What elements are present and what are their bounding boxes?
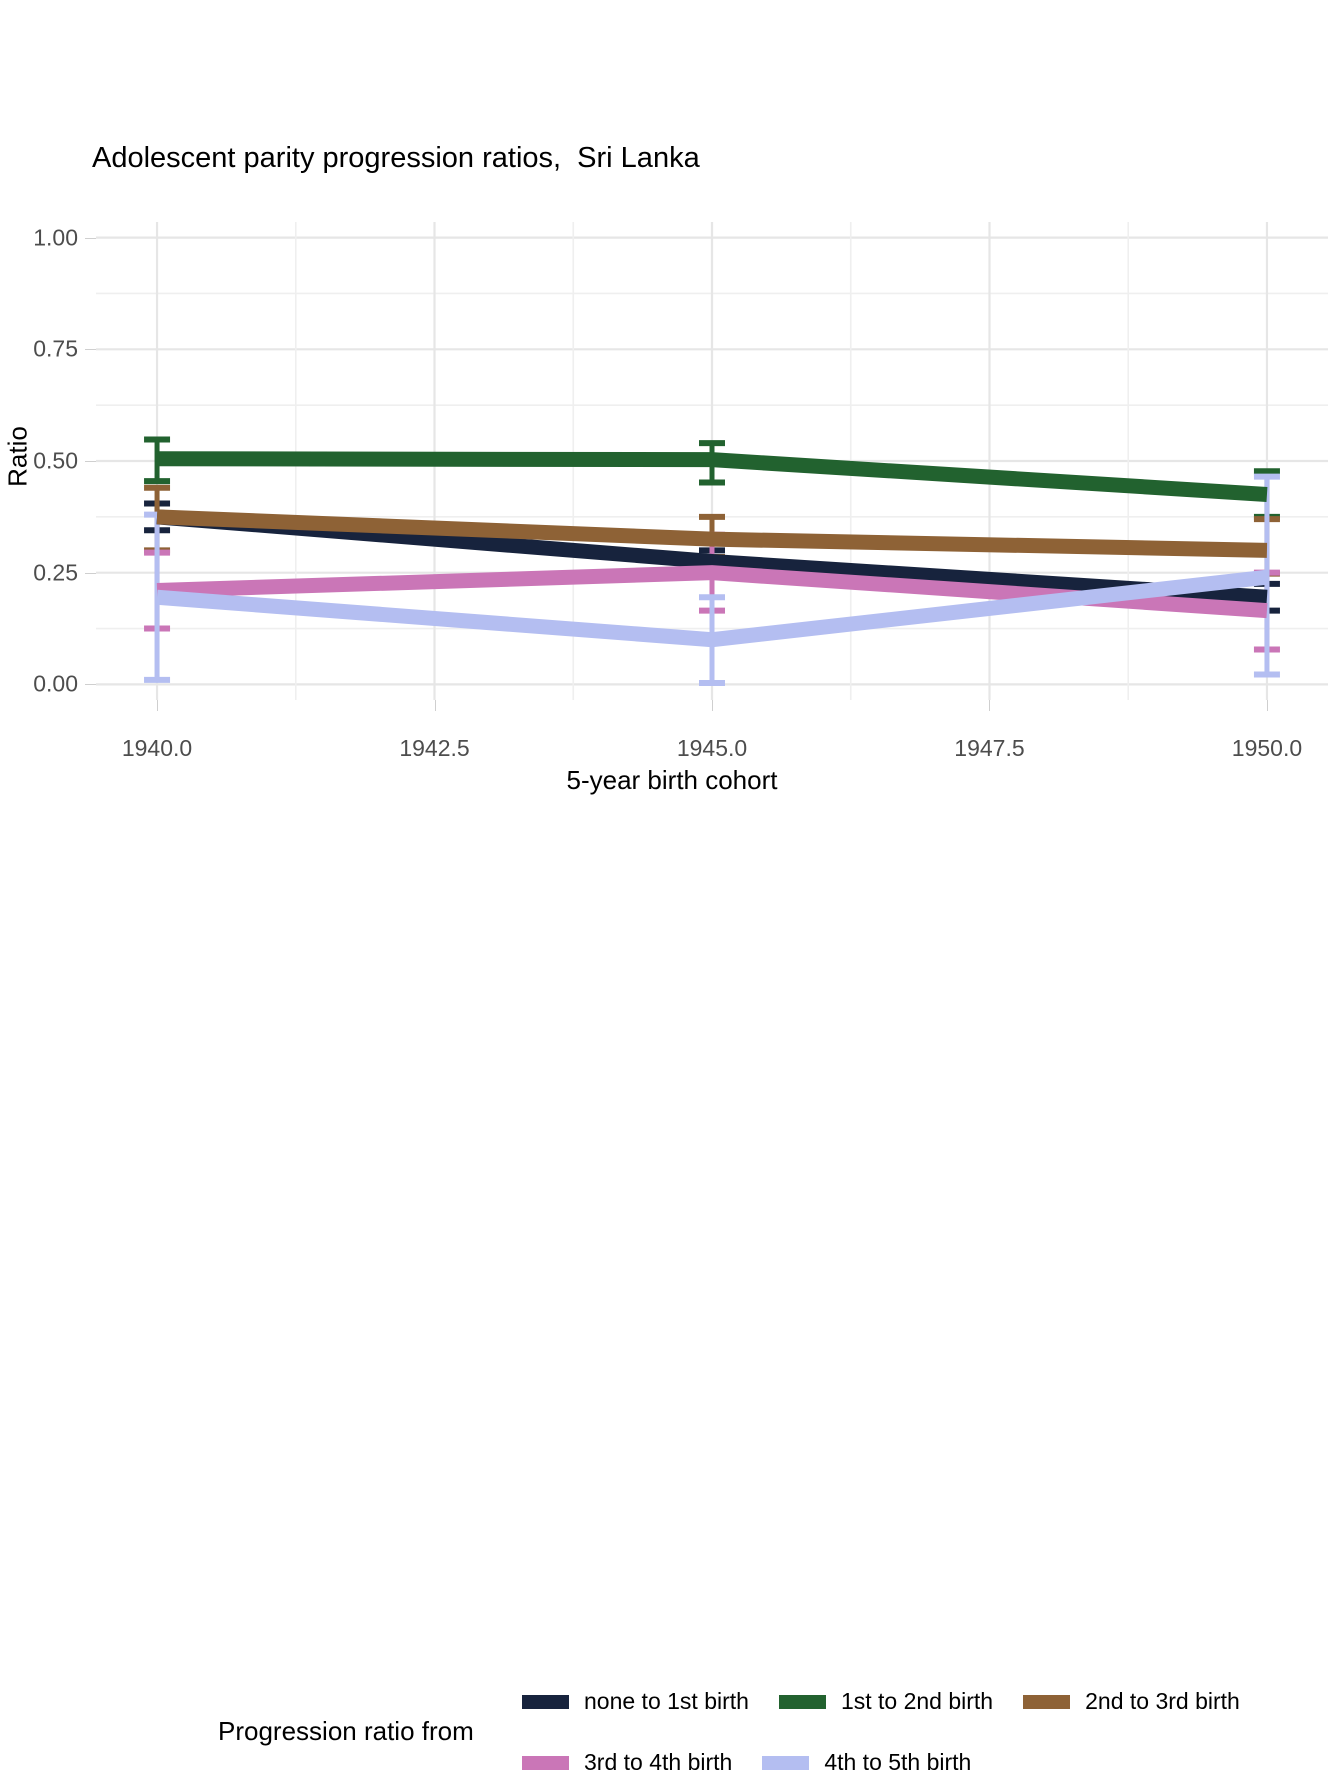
legend-label: none to 1st birth (584, 1688, 749, 1715)
legend-swatch-icon (1023, 1695, 1070, 1709)
legend-title: Progression ratio from (218, 1716, 474, 1747)
x-tick-mark (1267, 700, 1268, 711)
legend-item[interactable]: none to 1st birth (522, 1688, 749, 1715)
legend-swatch-icon (779, 1695, 826, 1709)
legend-label: 4th to 5th birth (824, 1749, 971, 1776)
y-tick-mark (85, 573, 96, 574)
legend-row-bottom: 3rd to 4th birth4th to 5th birth (522, 1749, 1001, 1776)
x-tick-mark (157, 700, 158, 711)
y-tick-mark (85, 461, 96, 462)
x-tick-mark (435, 700, 436, 711)
legend-item[interactable]: 3rd to 4th birth (522, 1749, 732, 1776)
legend-item[interactable]: 4th to 5th birth (762, 1749, 971, 1776)
legend-label: 1st to 2nd birth (841, 1688, 993, 1715)
legend-swatch-icon (522, 1695, 569, 1709)
x-tick-mark (989, 700, 990, 711)
legend: Progression ratio from none to 1st birth… (0, 838, 1344, 948)
y-tick-label: 0.00 (0, 671, 78, 698)
chart-root: Adolescent parity progression ratios, Sr… (0, 0, 1344, 960)
y-tick-label: 1.00 (0, 224, 78, 251)
x-tick-label: 1950.0 (1232, 735, 1302, 762)
y-tick-label: 0.50 (0, 448, 78, 475)
legend-label: 2nd to 3rd birth (1085, 1688, 1240, 1715)
legend-swatch-icon (522, 1756, 569, 1770)
x-tick-label: 1947.5 (954, 735, 1024, 762)
x-tick-label: 1940.0 (122, 735, 192, 762)
x-tick-label: 1942.5 (399, 735, 469, 762)
y-tick-mark (85, 349, 96, 350)
legend-item[interactable]: 1st to 2nd birth (779, 1688, 993, 1715)
legend-row-top: none to 1st birth1st to 2nd birth2nd to … (522, 1688, 1270, 1715)
data-layer (96, 222, 1328, 700)
y-tick-label: 0.25 (0, 559, 78, 586)
y-tick-mark (85, 238, 96, 239)
x-tick-mark (712, 700, 713, 711)
plot-panel (96, 222, 1328, 700)
x-tick-label: 1945.0 (677, 735, 747, 762)
y-tick-mark (85, 684, 96, 685)
legend-item[interactable]: 2nd to 3rd birth (1023, 1688, 1240, 1715)
legend-label: 3rd to 4th birth (584, 1749, 732, 1776)
legend-swatch-icon (762, 1756, 809, 1770)
y-tick-label: 0.75 (0, 336, 78, 363)
